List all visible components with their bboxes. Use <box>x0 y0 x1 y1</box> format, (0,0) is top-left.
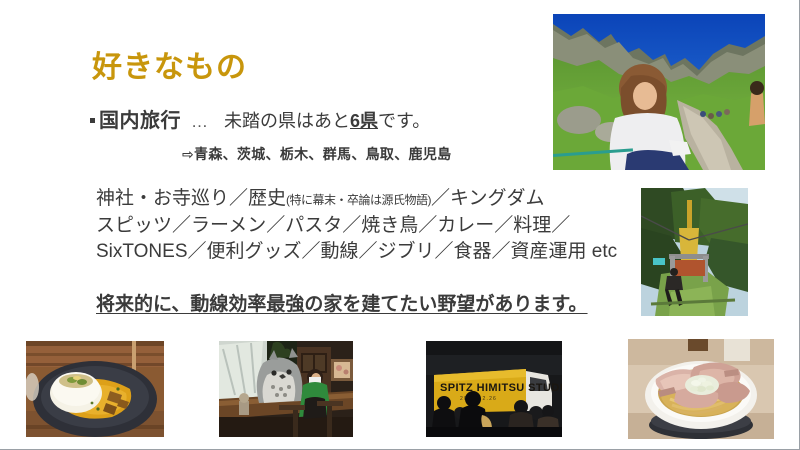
prefecture-list: 青森、茨城、栃木、群馬、鳥取、鹿児島 <box>194 146 451 162</box>
favorites-list: 神社・お寺巡り／歴史(特に幕末・卒論は源氏物語)／キングダム スピッツ／ラーメン… <box>96 186 617 265</box>
favorites-line-3: SixTONES／便利グッズ／動線／ジブリ／食器／資産運用 etc <box>96 239 617 265</box>
bullet-rest: 未踏の県はあと6県です。 <box>216 107 430 133</box>
truck-text-line1: SPITZ HIMITSU STUDIO <box>440 382 562 394</box>
bullet-emphasis: 6県 <box>350 111 378 131</box>
bullet-heading: 国内旅行 <box>99 104 181 133</box>
prefecture-subline: ⇨青森、茨城、栃木、群馬、鳥取、鹿児島 <box>182 144 451 164</box>
mountain-hiking-photo <box>553 14 765 170</box>
square-bullet-icon <box>90 118 95 123</box>
favorites-line-1-note: (特に幕末・卒論は源氏物語) <box>286 193 431 207</box>
page-title: 好きなもの <box>92 42 247 86</box>
ramen-photo <box>628 339 774 439</box>
curry-rice-photo <box>26 341 164 437</box>
favorites-line-2: スピッツ／ラーメン／パスタ／焼き鳥／カレー／料理／ <box>96 213 617 239</box>
favorites-line-2-pre: スピッツ／ラーメン／パスタ／焼き鳥／カレー／料理／ <box>96 215 570 236</box>
spitz-truck-photo: SPITZ HIMITSU STUDIO 2023.12.26 <box>426 341 562 437</box>
bullet-rest-after: です。 <box>378 111 430 131</box>
favorites-line-1-post: ／キングダム <box>431 188 544 209</box>
totoro-cafe-photo <box>219 341 353 437</box>
emphasis-sentence: 将来的に、動線効率最強の家を建てたい野望があります。 <box>96 289 588 316</box>
bullet-ellipsis: … <box>181 112 216 132</box>
zipline-photo <box>641 188 748 316</box>
slide-canvas: 好きなもの 国内旅行 … 未踏の県はあと6県です。 ⇨青森、茨城、栃木、群馬、鳥… <box>0 0 800 450</box>
right-arrow-icon: ⇨ <box>182 146 194 162</box>
favorites-line-1: 神社・お寺巡り／歴史(特に幕末・卒論は源氏物語)／キングダム <box>96 186 617 213</box>
bullet-rest-before: 未踏の県はあと <box>224 111 350 131</box>
favorites-line-3-pre: SixTONES／便利グッズ／動線／ジブリ／食器／資産運用 etc <box>96 241 617 262</box>
favorites-line-1-pre: 神社・お寺巡り／歴史 <box>96 188 286 209</box>
bullet-line: 国内旅行 … 未踏の県はあと6県です。 <box>90 104 430 133</box>
